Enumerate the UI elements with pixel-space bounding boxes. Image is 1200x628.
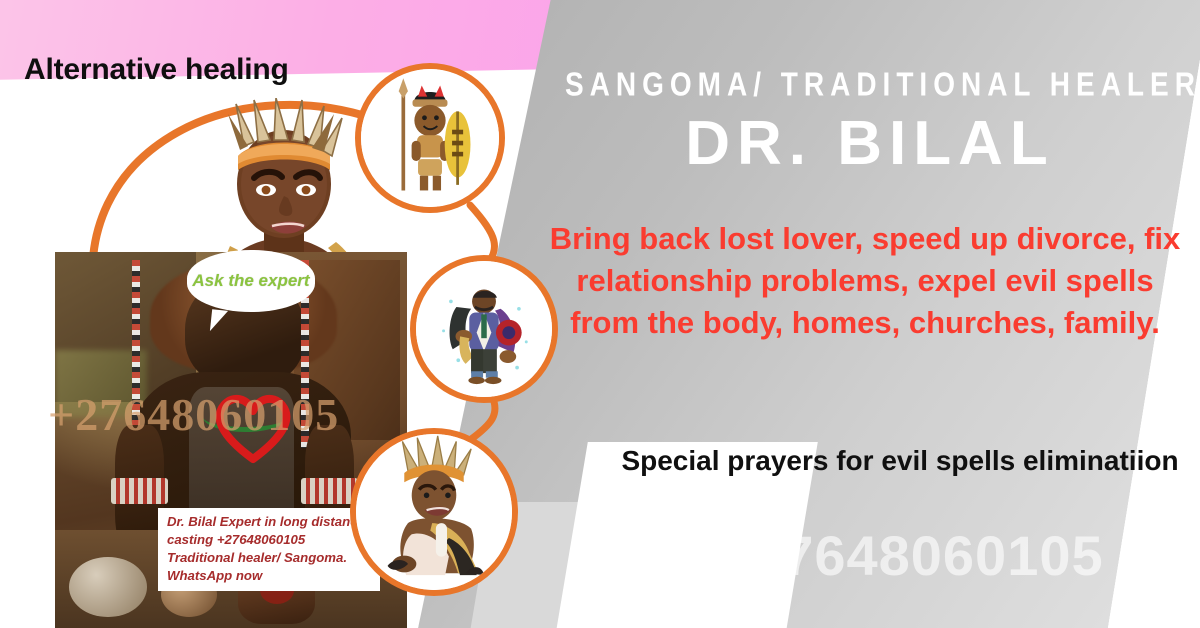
ask-the-expert-label: Ask the expert <box>192 272 309 290</box>
poster-canvas: +27648060105 Ask the expert Dr. Bilal Ex… <box>0 0 1200 628</box>
page-title-dr-bilal: DR. BILAL <box>565 108 1175 179</box>
photo-caption-text: Dr. Bilal Expert in long distance castin… <box>167 513 373 585</box>
ghost-phone-number: +27648060105 <box>620 523 1200 588</box>
kicker-sangoma-traditional-healer: SANGOMA/ TRADITIONAL HEALER <box>565 66 1175 104</box>
speech-bubble-tail <box>210 309 228 333</box>
photo-phone-overlay: +27648060105 <box>48 388 339 441</box>
special-prayers-text: Special prayers for evil spells eliminat… <box>610 443 1190 480</box>
services-description: Bring back lost lover, speed up divorce,… <box>540 218 1190 344</box>
zulu-warrior-icon <box>361 69 499 207</box>
traditional-healer-icon <box>416 261 552 397</box>
bubble-traditional-healer[interactable] <box>410 255 558 403</box>
bubble-crouching-sangoma[interactable] <box>350 428 518 596</box>
ask-the-expert-bubble: Ask the expert <box>187 250 315 312</box>
bubble-zulu-warrior[interactable] <box>355 63 505 213</box>
crouching-sangoma-icon <box>356 434 512 590</box>
alternative-healing-heading: Alternative healing <box>24 53 289 87</box>
photo-caption-box: Dr. Bilal Expert in long distance castin… <box>158 508 380 591</box>
